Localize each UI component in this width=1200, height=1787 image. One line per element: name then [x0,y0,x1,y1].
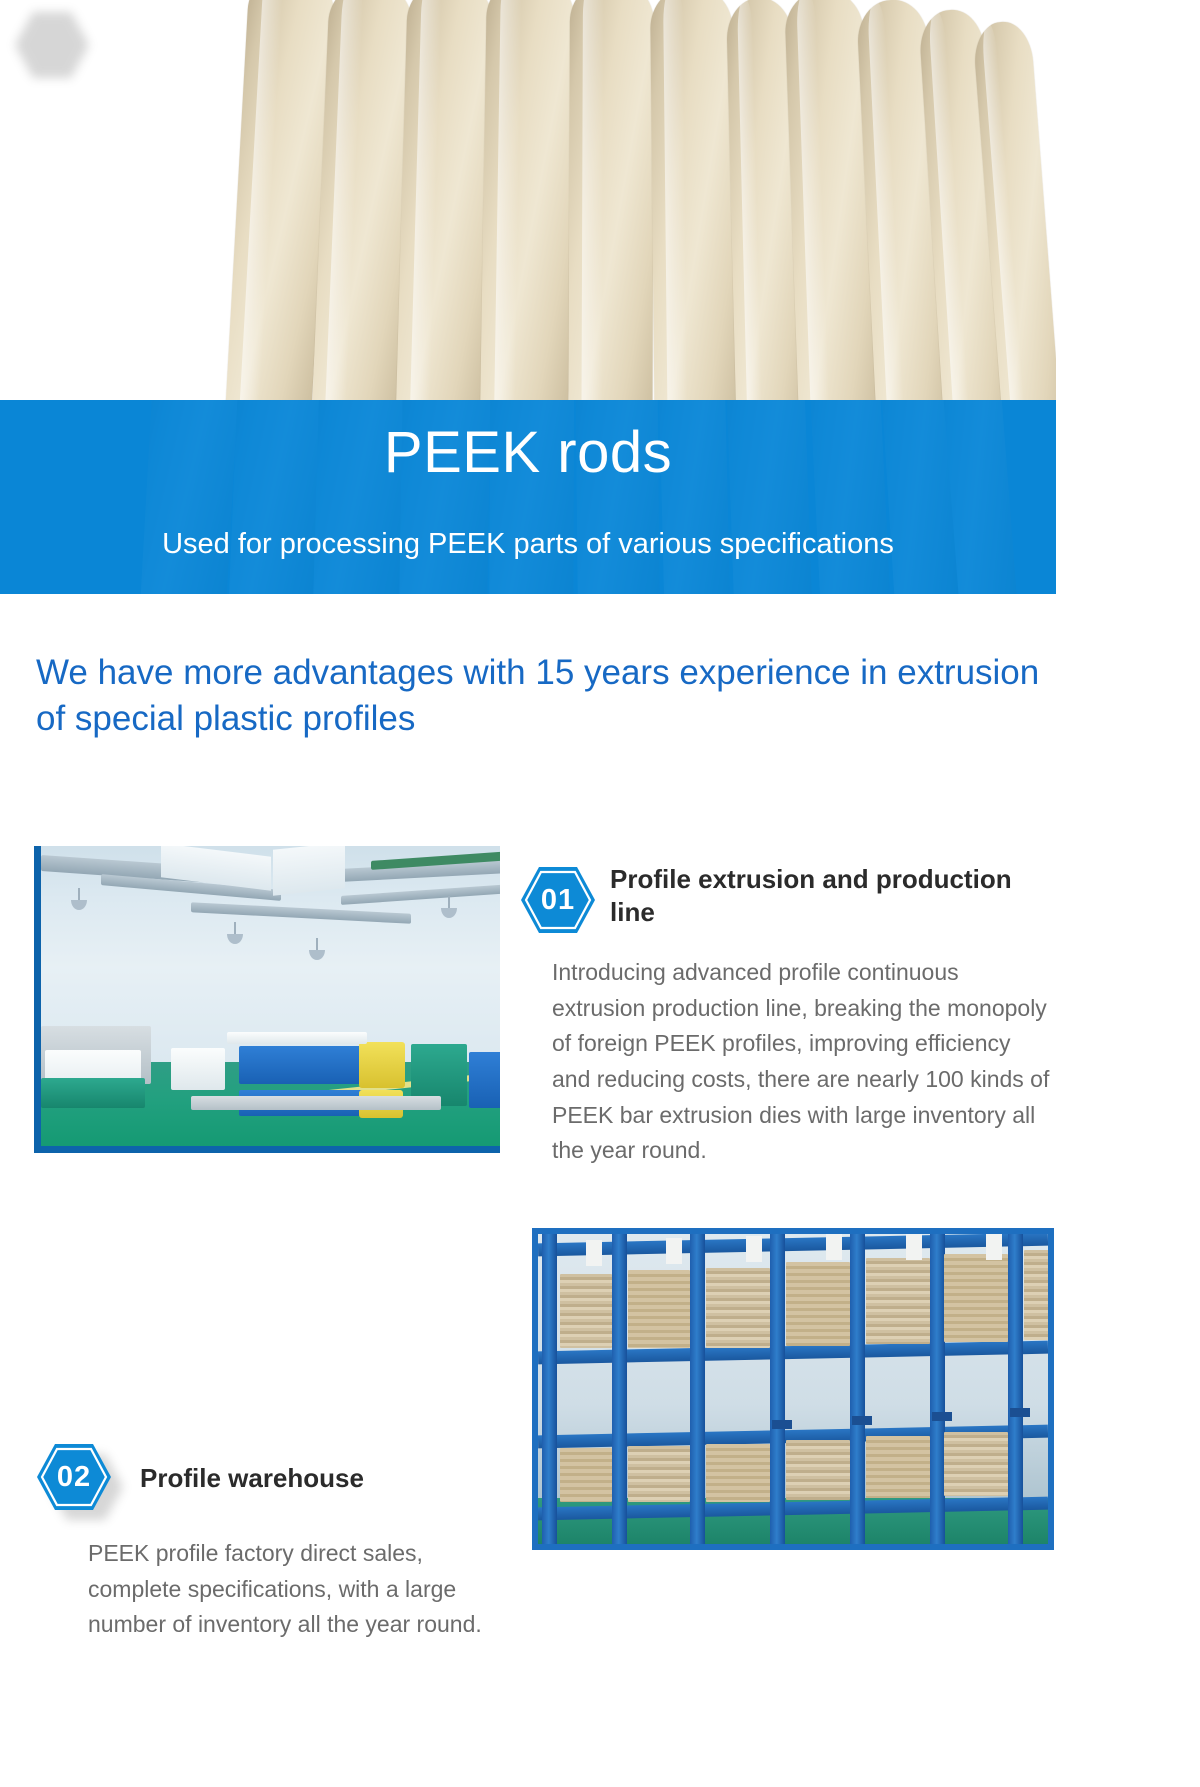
hero-subtitle: Used for processing PEEK parts of variou… [0,527,1056,562]
section-01-body: Introducing advanced profile continuous … [552,955,1052,1169]
hero-banner: PEEK rods Used for processing PEEK parts… [0,0,1056,594]
section-02-body: PEEK profile factory direct sales, compl… [88,1536,520,1643]
badge-01: 01 [520,865,596,935]
badge-01-number: 01 [520,865,596,935]
warehouse-scene [538,1234,1048,1544]
factory-scene [41,846,500,1146]
badge-02: 02 [36,1442,112,1512]
page-headline: We have more advantages with 15 years ex… [36,650,1046,742]
profile-warehouse-photo [532,1228,1054,1550]
product-detail-page: PEEK rods Used for processing PEEK parts… [0,0,1200,1787]
badge-02-number: 02 [36,1442,112,1512]
extrusion-production-line-photo [34,846,500,1153]
section-02-title: Profile warehouse [140,1462,520,1495]
section-01-title: Profile extrusion and production line [610,863,1050,930]
hero-title: PEEK rods [0,424,1056,482]
badge-01-shadow [14,10,90,80]
